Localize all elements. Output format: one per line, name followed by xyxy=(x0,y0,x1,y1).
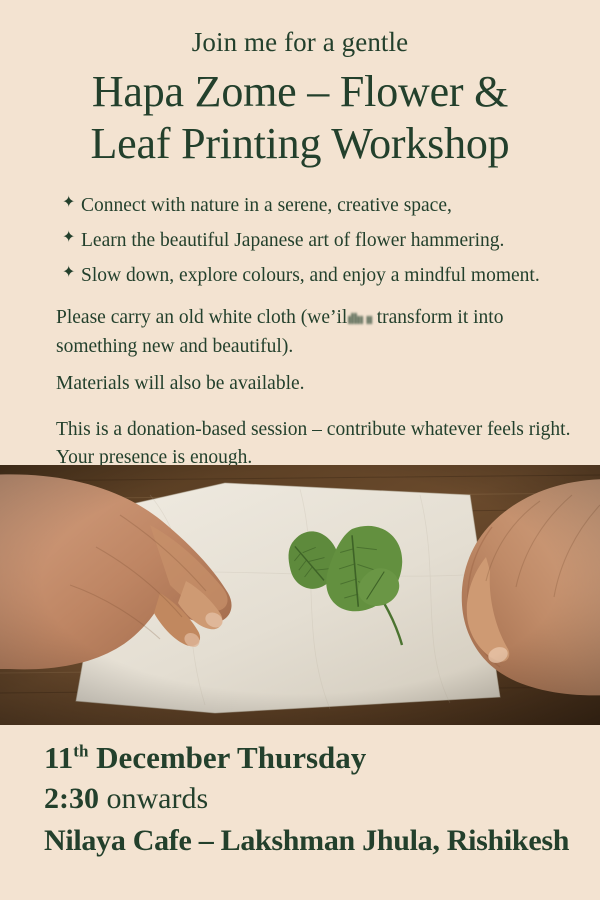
page-title: Hapa Zome – Flower & Leaf Printing Works… xyxy=(24,56,576,170)
workshop-photo xyxy=(0,465,600,725)
body-copy: Please carry an old white cloth (we’ilıl… xyxy=(0,304,600,472)
headline-line-1: Hapa Zome – Flower & xyxy=(24,66,576,118)
star-bullet-icon: ✦ xyxy=(62,261,75,286)
benefits-list: ✦ Connect with nature in a serene, creat… xyxy=(0,192,600,290)
list-item: ✦ Learn the beautiful Japanese art of fl… xyxy=(62,227,582,255)
list-item-label: Slow down, explore colours, and enjoy a … xyxy=(81,265,540,286)
list-item-label: Connect with nature in a serene, creativ… xyxy=(81,195,452,216)
event-time-suffix: onwards xyxy=(107,782,209,815)
list-item: ✦ Slow down, explore colours, and enjoy … xyxy=(62,262,582,290)
materials-paragraph: Materials will also be available. xyxy=(56,370,574,398)
event-month-weekday: December Thursday xyxy=(96,740,366,775)
star-bullet-icon: ✦ xyxy=(62,226,75,251)
cloth-instructions-paragraph: Please carry an old white cloth (we’ilıl… xyxy=(56,304,574,361)
poster-root: Join me for a gentle Hapa Zome – Flower … xyxy=(0,0,600,900)
event-day-number: 11 xyxy=(44,740,73,775)
render-artifact-glyphs: ıllıı ıı xyxy=(347,309,372,331)
poster-header: Join me for a gentle Hapa Zome – Flower … xyxy=(0,0,600,170)
list-item-label: Learn the beautiful Japanese art of flow… xyxy=(81,230,504,251)
event-day-ordinal: th xyxy=(73,742,88,761)
list-item: ✦ Connect with nature in a serene, creat… xyxy=(62,192,582,220)
event-venue: Nilaya Cafe – Lakshman Jhula, Rishikesh xyxy=(44,821,569,860)
event-time: 2:30 onwards xyxy=(44,779,569,818)
event-date: 11th December Thursday xyxy=(44,738,569,778)
event-details: 11th December Thursday 2:30 onwards Nila… xyxy=(44,738,569,860)
event-time-value: 2:30 xyxy=(44,782,99,815)
cloth-instructions-prefix: Please carry an old white cloth (we’il xyxy=(56,307,347,328)
headline-line-2: Leaf Printing Workshop xyxy=(24,118,576,170)
star-bullet-icon: ✦ xyxy=(62,191,75,216)
eyebrow-text: Join me for a gentle xyxy=(24,0,576,56)
